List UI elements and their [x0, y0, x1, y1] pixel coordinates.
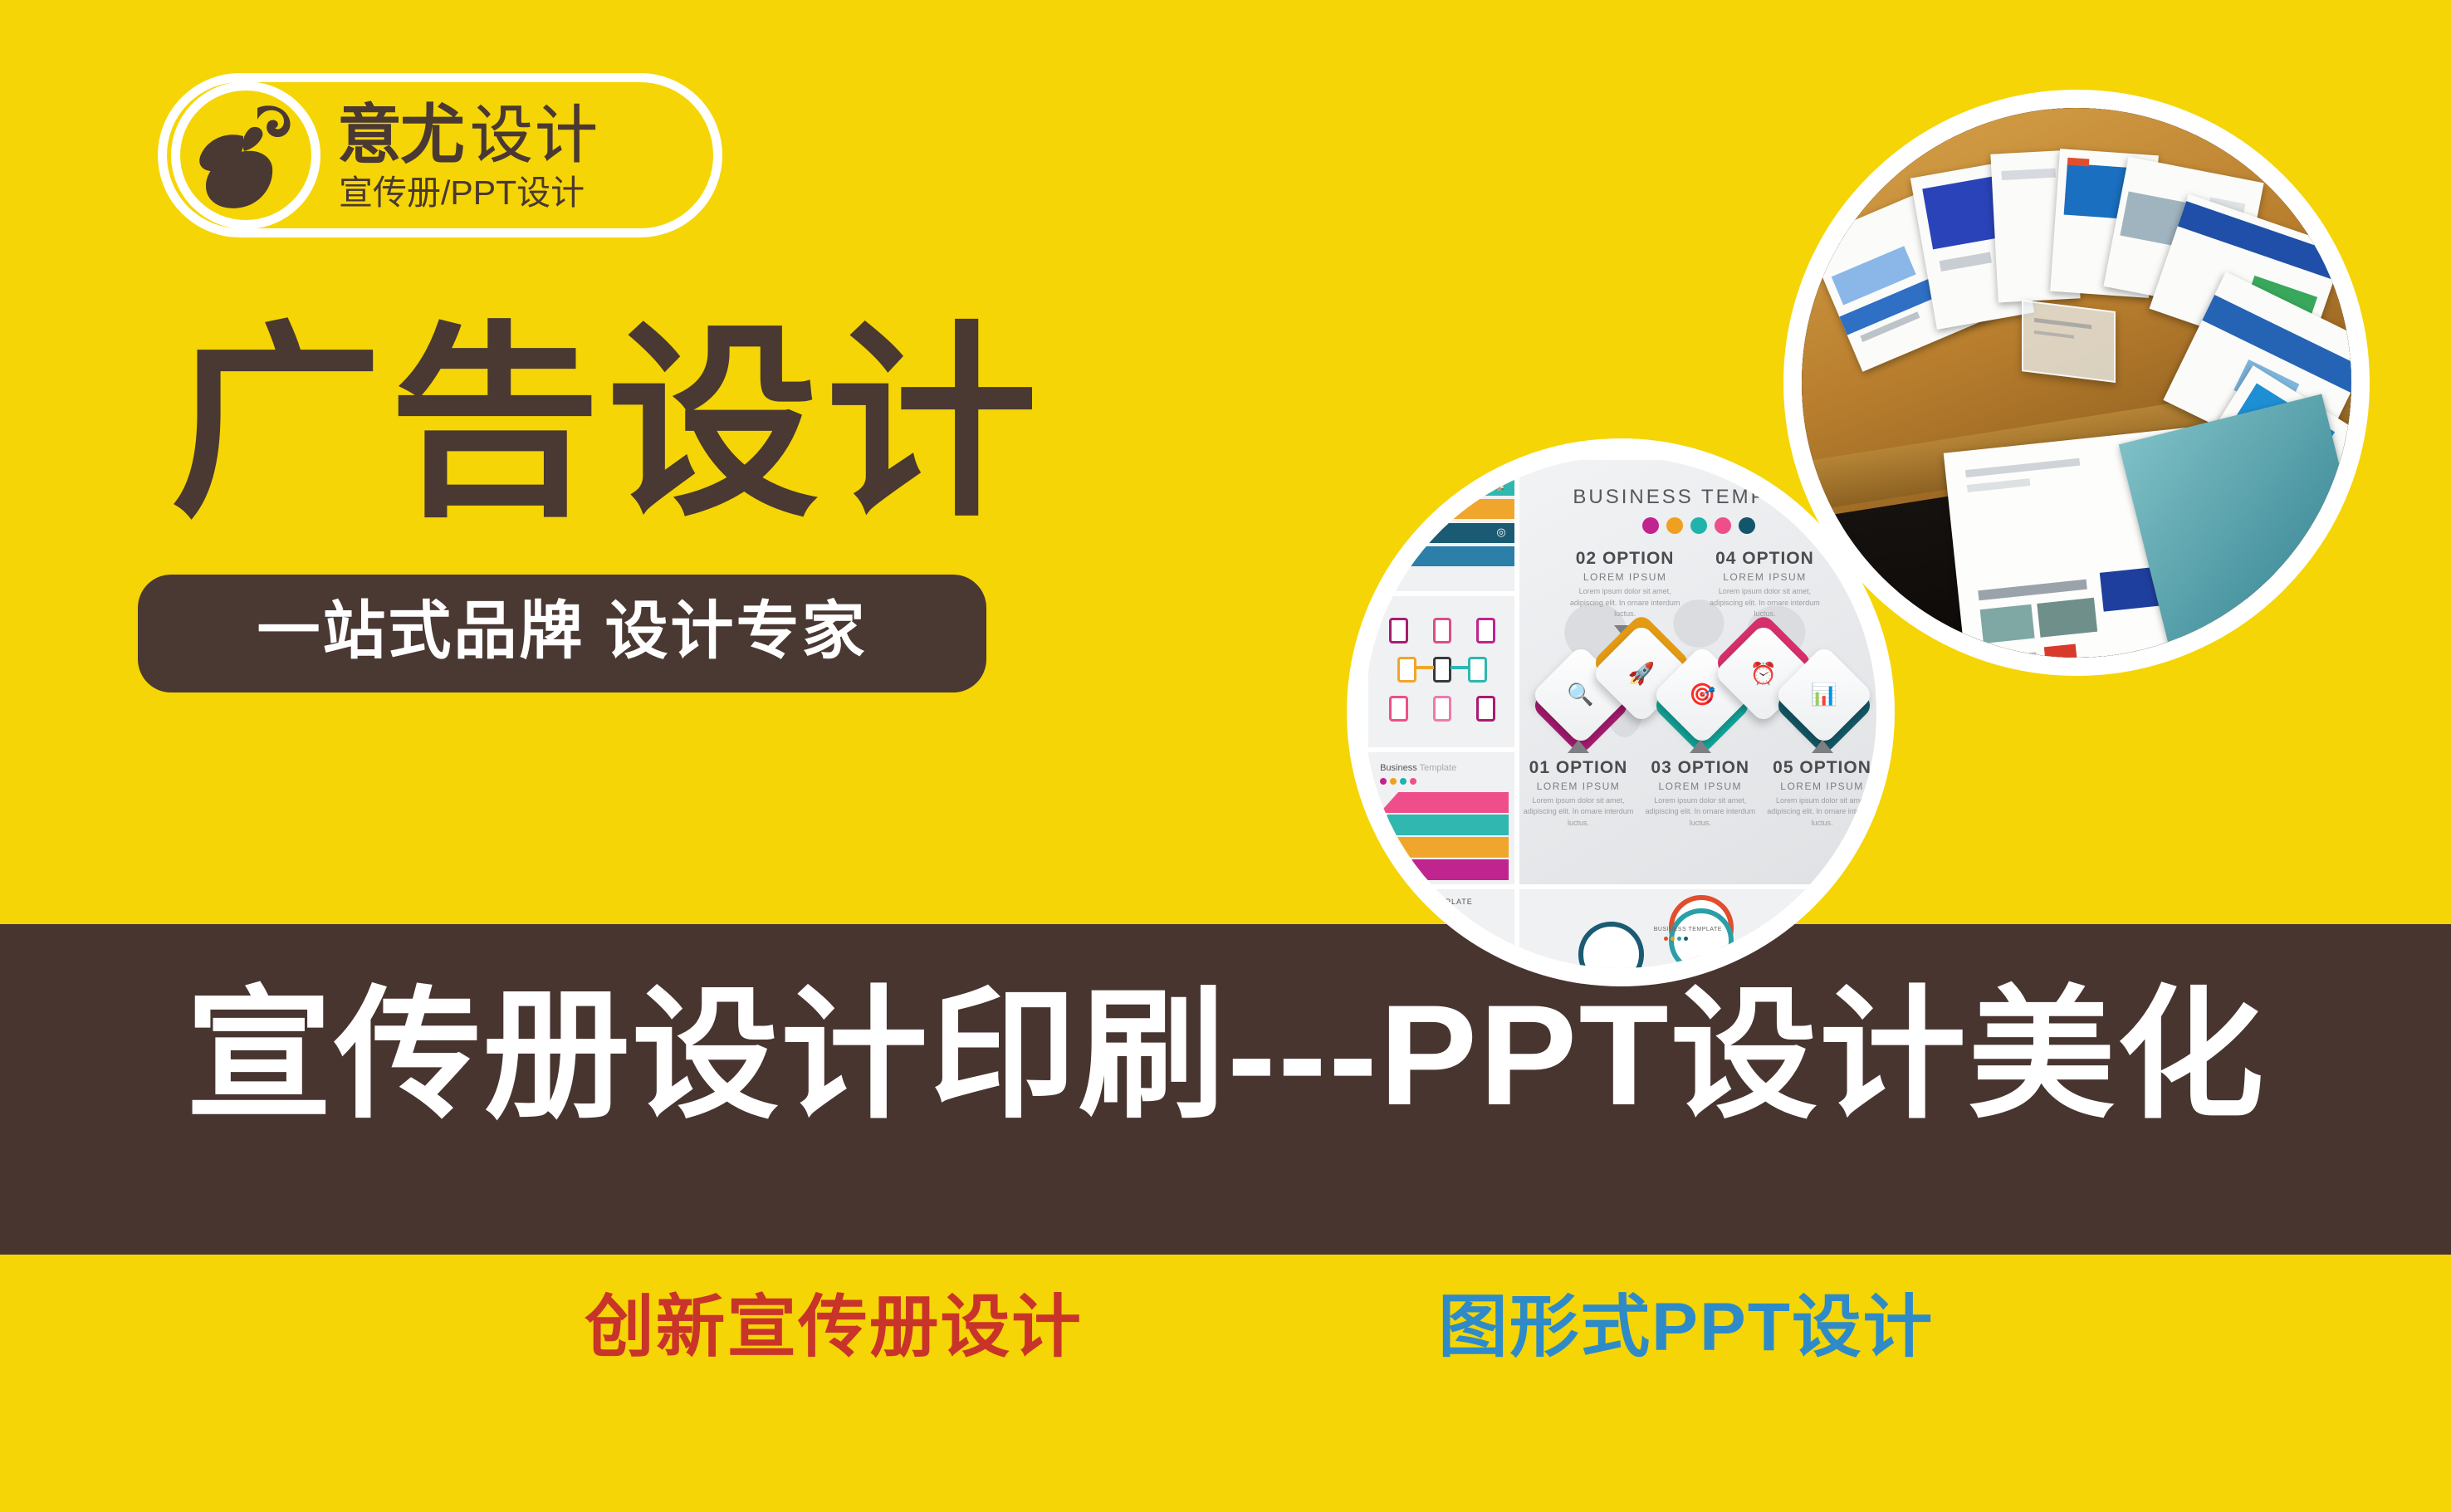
logo-name-thin: 设计: [470, 105, 599, 168]
caption-ppt-design: 图形式PPT设计: [1438, 1294, 1934, 1362]
option-sub: LOREM IPSUM: [1638, 780, 1763, 792]
option-number: 02 OPTION: [1563, 549, 1687, 569]
tagline-text: 一站式品牌 设计专家: [257, 600, 867, 663]
logo-name-row: 意尤 设计: [337, 102, 722, 168]
mango-leaf-logo-icon: [193, 100, 301, 213]
ppt-option-01: 01 OPTION LOREM IPSUM Lorem ipsum dolor …: [1519, 740, 1641, 829]
thumbnail-node-diagram: [1368, 596, 1514, 747]
ppt-diamond-05: 📊: [1788, 659, 1860, 731]
brochure-photo-circle: [1783, 90, 2370, 676]
option-body: Lorem ipsum dolor sit amet, adipiscing e…: [1519, 795, 1641, 829]
thumbnail-ribbon: 🏠 ◎: [1368, 460, 1514, 591]
thumbnail-pyramid: Business Template: [1368, 752, 1514, 883]
ppt-template-grid: 🏠 ◎ BUSINESS TEMPLATE 02 OPTION LOREM IP: [1365, 457, 1876, 968]
chart-icon: 📊: [1788, 659, 1860, 731]
option-number: 03 OPTION: [1638, 758, 1763, 778]
option-sub: LOREM IPSUM: [1563, 571, 1687, 583]
band-headline: 宣传册设计印刷---PPT设计美化: [0, 959, 2451, 1152]
caption-brochure-design: 创新宣传册设计: [585, 1294, 1083, 1362]
logo-name-bold: 意尤: [337, 102, 463, 167]
option-sub: LOREM IPSUM: [1519, 780, 1641, 792]
option-body: Lorem ipsum dolor sit amet, adipiscing e…: [1563, 586, 1687, 620]
option-body: Lorem ipsum dolor sit amet, adipiscing e…: [1638, 795, 1763, 829]
card-holder: [2022, 300, 2116, 383]
ppt-option-03: 03 OPTION LOREM IPSUM Lorem ipsum dolor …: [1638, 740, 1763, 829]
ppt-option-05: 05 OPTION LOREM IPSUM Lorem ipsum dolor …: [1760, 740, 1878, 829]
ppt-color-dots: [1642, 517, 1755, 534]
option-sub: LOREM IPSUM: [1760, 780, 1878, 792]
option-number: 05 OPTION: [1760, 758, 1878, 778]
ppt-option-02: 02 OPTION LOREM IPSUM Lorem ipsum dolor …: [1563, 549, 1687, 639]
ppt-slide-title: BUSINESS TEMPLATE: [1573, 486, 1825, 509]
tagline-badge: 一站式品牌 设计专家: [138, 575, 986, 692]
option-body: Lorem ipsum dolor sit amet, adipiscing e…: [1760, 795, 1878, 829]
logo-text-block: 意尤 设计 宣传册/PPT设计: [332, 75, 722, 237]
page-title: 广告设计: [170, 314, 1044, 534]
logo-subtitle: 宣传册/PPT设计: [339, 176, 722, 210]
brochure-photo: [1802, 108, 2351, 658]
option-number: 01 OPTION: [1519, 758, 1641, 778]
poster-canvas: 意尤 设计 宣传册/PPT设计 广告设计 一站式品牌 设计专家 🏠 ◎: [0, 0, 2451, 1512]
